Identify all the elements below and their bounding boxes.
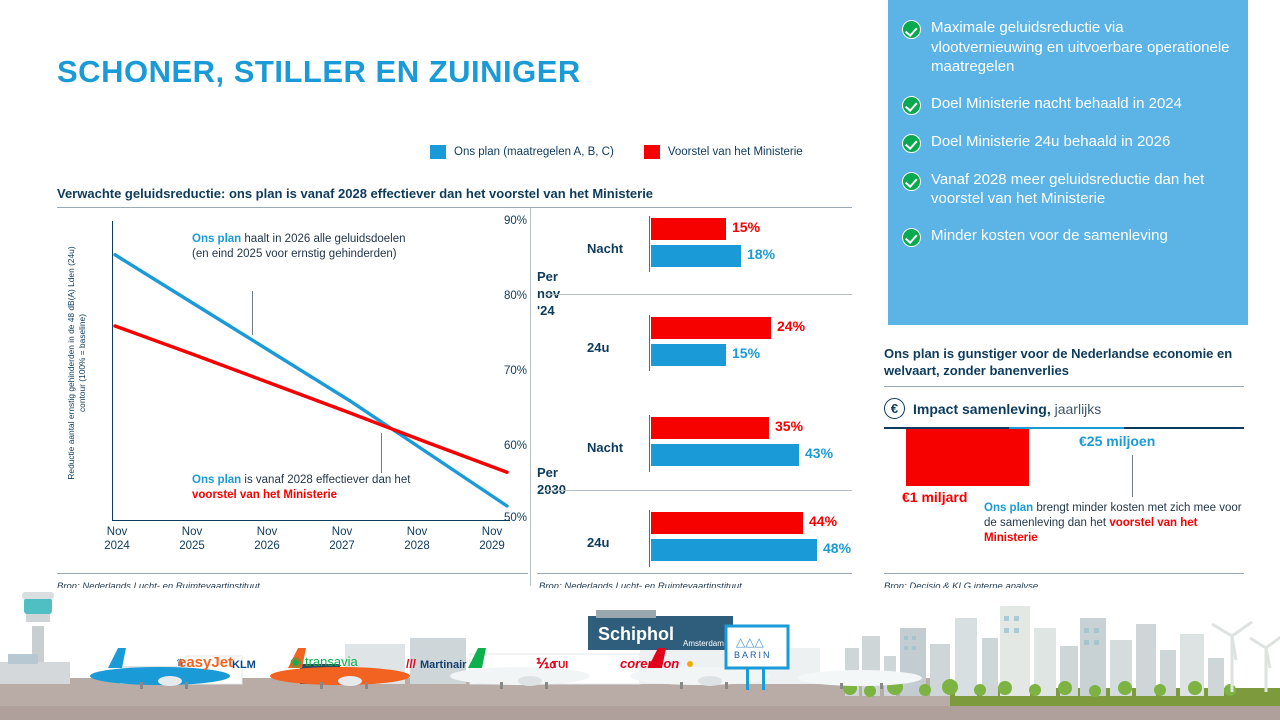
bar-value-24u-2030-red: 44% [809,513,837,529]
bar-group-label-2030-l0: Per [537,464,566,481]
x-tick-5-mon: Nov [462,526,522,540]
annotation-bottom: Ons plan is vanaf 2028 effectiever dan h… [192,473,452,502]
highlight-bullet-4-text: Vanaf 2028 meer geluidsreductie dan het … [931,170,1230,209]
bar-group-label-nov24-l0: Per [537,268,560,285]
x-tick-0-year: 2024 [87,540,147,554]
annotation-top: Ons plan haalt in 2026 alle geluidsdoele… [192,232,417,261]
check-circle-icon [902,228,921,247]
bar-value-nacht-nov24-red: 15% [732,219,760,235]
highlight-bullet-4: Vanaf 2028 meer geluidsreductie dan het … [902,170,1230,209]
annotation-bottom-red: voorstel van het Ministerie [192,489,337,501]
x-tick-2: Nov2026 [237,526,297,553]
bar-value-nacht-2030-blue: 43% [805,445,833,461]
bar-row-label-nacht-nov24: Nacht [587,241,623,256]
source-rule-right [884,573,1244,574]
bar-nacht-nov24-red [651,218,726,240]
highlight-bullet-2: Doel Ministerie nacht behaald in 2024 [902,94,1230,115]
bar-group-separator-2 [545,490,852,491]
highlight-bullet-1-text: Maximale geluidsreductie via vlootvernie… [931,18,1230,77]
logo-transavia: ◉ transavia [290,654,358,669]
impact-label-bold: Impact samenleving, [913,401,1051,417]
legend-item-ons-plan: Ons plan (maatregelen A, B, C) [430,145,614,159]
line-series-1 [115,326,507,472]
source-rule-left [57,573,528,574]
economy-panel-rule [884,386,1244,387]
svg-text:Schiphol: Schiphol [598,624,674,644]
illustration-svg: Schiphol Amsterdam Airport [0,588,1280,720]
legend-swatch-red-icon [644,145,660,159]
bar-row-label-24u-2030: 24u [587,535,609,550]
x-tick-1-year: 2025 [162,540,222,554]
logo-klm: KLM [232,659,256,671]
bars-panel: Per nov '24 Nacht 15% 18% 24u 24% 15% Pe… [537,212,852,572]
legend-label-voorstel: Voorstel van het Ministerie [668,146,803,158]
highlight-bullet-5: Minder kosten voor de samenleving [902,226,1230,247]
annotation-bottom-mid: is vanaf 2028 effectiever dan het [241,474,410,486]
y-axis-label: Reductie aantal ernstig gehinderden in d… [66,238,88,488]
cost-value-ministerie: €1 miljard [902,489,967,505]
logo-martinair: Martinair [420,659,467,671]
bar-row-label-nacht-2030: Nacht [587,440,623,455]
bar-nacht-nov24-blue [651,245,741,267]
bar-group-separator-1 [545,294,852,295]
svg-text:△△△: △△△ [736,635,764,649]
bar-nacht-2030-red [651,417,769,439]
impact-label: Impact samenleving, jaarlijks [913,401,1101,417]
svg-text:BARIN: BARIN [734,650,772,660]
chart-heading: Verwachte geluidsreductie: ons plan is v… [57,186,852,208]
bar-value-24u-2030-blue: 48% [823,540,851,556]
impact-header: € Impact samenleving, jaarlijks [884,398,1254,419]
bar-value-24u-nov24-blue: 15% [732,345,760,361]
annotation-top-leader-line [252,291,253,335]
chart-legend: Ons plan (maatregelen A, B, C) Voorstel … [430,145,803,159]
bar-group-label-nov24-l2: '24 [537,302,560,319]
bar-24u-nov24-red [651,317,771,339]
annotation-bottom-lead: Ons plan [192,474,241,486]
x-tick-0-mon: Nov [87,526,147,540]
cost-baseline-right [1124,427,1244,429]
check-circle-icon [902,134,921,153]
x-tick-3-mon: Nov [312,526,372,540]
bar-nacht-2030-blue [651,444,799,466]
bar-24u-2030-blue [651,539,817,561]
highlight-bullet-3-text: Doel Ministerie 24u behaald in 2026 [931,132,1170,152]
check-circle-icon [902,172,921,191]
cost-note: Ons plan brengt minder kosten met zich m… [984,501,1246,546]
logo-corendon: corendon [620,656,679,671]
x-tick-3: Nov2027 [312,526,372,553]
x-tick-2-year: 2026 [237,540,297,554]
check-circle-icon [902,96,921,115]
x-tick-1-mon: Nov [162,526,222,540]
bar-24u-2030-red [651,512,803,534]
annotation-bottom-leader-line [381,433,382,473]
legend-swatch-blue-icon [430,145,446,159]
x-tick-1: Nov2025 [162,526,222,553]
x-tick-4-mon: Nov [387,526,447,540]
airport-skyline-illustration: Schiphol Amsterdam Airport [0,588,1280,720]
y-axis-label-text: Reductie aantal ernstig gehinderden in d… [66,238,88,488]
mid-panel-divider [530,208,531,586]
bar-value-24u-nov24-red: 24% [777,318,805,334]
legend-label-ons-plan: Ons plan (maatregelen A, B, C) [454,146,614,158]
svg-text:TUI: TUI [552,660,568,671]
impact-label-light: jaarlijks [1051,401,1102,417]
highlights-panel: Maximale geluidsreductie via vlootvernie… [888,0,1248,325]
bar-value-nacht-2030-red: 35% [775,418,803,434]
line-series-0 [115,255,507,506]
bar-group-label-2030: Per 2030 [537,464,566,498]
highlight-bullet-2-text: Doel Ministerie nacht behaald in 2024 [931,94,1182,114]
x-tick-3-year: 2027 [312,540,372,554]
source-rule-mid [537,573,852,574]
economy-panel: Ons plan is gunstiger voor de Nederlands… [884,345,1254,557]
x-tick-4: Nov2028 [387,526,447,553]
legend-item-voorstel-ministerie: Voorstel van het Ministerie [644,145,803,159]
x-tick-0: Nov2024 [87,526,147,553]
cost-comparison-chart: €1 miljard €25 miljoen Ons plan brengt m… [884,427,1244,557]
bar-24u-nov24-blue [651,344,726,366]
x-tick-2-mon: Nov [237,526,297,540]
page-title: SCHONER, STILLER EN ZUINIGER [57,54,581,90]
cost-bar-ministerie [906,429,1029,486]
x-tick-5-year: 2029 [462,540,522,554]
chart-panel-header: Verwachte geluidsreductie: ons plan is v… [57,186,852,208]
bar-value-nacht-nov24-blue: 18% [747,246,775,262]
cost-note-lead: Ons plan [984,502,1033,514]
x-tick-4-year: 2028 [387,540,447,554]
economy-panel-title: Ons plan is gunstiger voor de Nederlands… [884,345,1254,379]
check-circle-icon [902,20,921,39]
euro-icon: € [884,398,905,419]
bar-row-label-24u-nov24: 24u [587,340,609,355]
svg-text:///: /// [406,657,417,671]
highlight-bullet-5-text: Minder kosten voor de samenleving [931,226,1168,246]
cost-leader-line [1132,455,1133,497]
x-tick-5: Nov2029 [462,526,522,553]
highlight-bullet-3: Doel Ministerie 24u behaald in 2026 [902,132,1230,153]
cost-value-ons-plan: €25 miljoen [1079,433,1155,449]
highlight-bullet-1: Maximale geluidsreductie via vlootvernie… [902,18,1230,77]
annotation-top-lead: Ons plan [192,233,241,245]
logo-easyjet: easyJet [178,654,233,671]
